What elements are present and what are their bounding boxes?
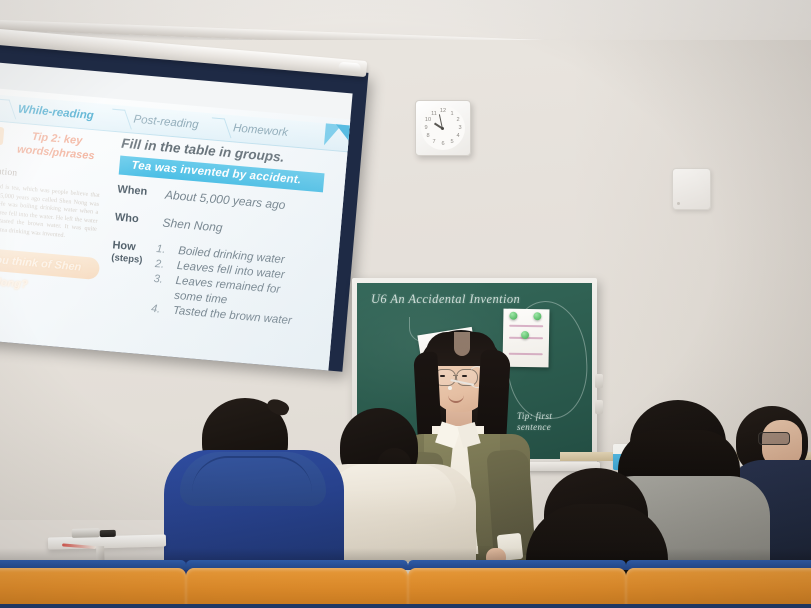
slide-orange-banner-label: What do you think of Shen Nong? <box>0 243 100 302</box>
glasses-bridge <box>453 375 458 376</box>
clock-number: 2 <box>454 117 462 123</box>
teacher-hair-part <box>454 332 470 356</box>
blackboard-clip <box>595 374 603 388</box>
blackboard-title-text: U6 An Accidental Invention <box>371 292 520 307</box>
clock-face: 12 1 2 3 4 5 6 7 8 9 10 11 <box>421 106 465 150</box>
clock-number: 5 <box>448 139 456 145</box>
clock-number: 3 <box>456 125 464 131</box>
side-table <box>48 534 166 549</box>
green-magnet-icon <box>533 312 541 320</box>
nav-separator <box>0 99 16 120</box>
step-number: 4. <box>151 303 161 316</box>
clock-number: 9 <box>422 125 430 131</box>
seat-backrest <box>186 568 408 608</box>
hoodie-hood <box>328 464 456 514</box>
step-text: Tasted the brown water <box>172 305 292 327</box>
slide-left-badge: ng <box>0 123 4 145</box>
seat-3[interactable] <box>408 560 626 608</box>
step-number: 3. <box>153 273 163 286</box>
screen-roller-knob <box>338 62 361 74</box>
slide-left-badge-label: ng <box>0 123 4 145</box>
table-row-label: Who <box>114 211 159 227</box>
nav-arrow-corner <box>334 124 351 152</box>
table-row: How (steps) 1. Boiled drinking water 2. … <box>106 239 113 319</box>
seat-backrest <box>626 568 811 608</box>
seat-backrest <box>408 568 626 608</box>
clock-number: 11 <box>430 111 438 117</box>
step-text: some time <box>174 290 228 307</box>
projection-screen: ng While-reading Post-reading Homework n… <box>0 38 368 372</box>
table-row-value: About 5,000 years ago <box>164 188 286 212</box>
nav-separator <box>112 109 132 130</box>
student-blue-hoodie <box>172 398 342 578</box>
screen-surface: ng While-reading Post-reading Homework n… <box>0 61 353 361</box>
seat-backrest <box>0 568 186 608</box>
clock-number: 8 <box>424 133 432 139</box>
slide-article-body: popular drink in the world is tea, which… <box>0 178 100 244</box>
nav-tab-homework[interactable]: Homework <box>232 118 289 143</box>
wall-clock: 12 1 2 3 4 5 6 7 8 9 10 11 <box>415 100 471 156</box>
floor-edge <box>0 604 811 608</box>
teacher-eye <box>440 375 445 377</box>
step-number: 1. <box>156 243 166 256</box>
slide-article-title: ccidental Invention <box>0 162 100 186</box>
headset-mic-tip <box>448 386 452 390</box>
clock-number: 12 <box>439 108 447 114</box>
table-item-remote[interactable] <box>72 528 100 538</box>
green-magnet-icon <box>509 312 517 320</box>
nav-tab-while-reading[interactable]: While-reading <box>17 99 94 126</box>
table-row-value: Shen Nong <box>162 216 223 235</box>
wall-mounted-box <box>672 168 711 210</box>
step-number: 2. <box>154 258 164 271</box>
teacher-eye <box>462 375 467 377</box>
nav-separator <box>212 117 232 138</box>
table-row-label: When <box>117 183 162 199</box>
classroom-photo: ng While-reading Post-reading Homework n… <box>0 0 811 608</box>
seat-4[interactable] <box>626 560 811 608</box>
clock-number: 10 <box>424 117 432 123</box>
clock-number: 7 <box>430 139 438 145</box>
table-item-device[interactable] <box>100 530 116 537</box>
presentation-slide: ng While-reading Post-reading Homework n… <box>0 87 350 372</box>
slide-orange-banner: What do you think of Shen Nong? <box>0 243 100 280</box>
seat-2[interactable] <box>186 560 408 608</box>
wall-box-indicator <box>677 202 680 205</box>
seat-1[interactable] <box>0 560 186 608</box>
nav-tab-post-reading[interactable]: Post-reading <box>133 110 200 136</box>
clock-center-pin <box>441 127 444 130</box>
hoodie-seam <box>192 456 312 492</box>
slide-tip-label: Tip 2: key words/phrases <box>8 128 105 164</box>
clock-number: 6 <box>439 141 447 147</box>
table-item-pen[interactable] <box>62 543 96 549</box>
